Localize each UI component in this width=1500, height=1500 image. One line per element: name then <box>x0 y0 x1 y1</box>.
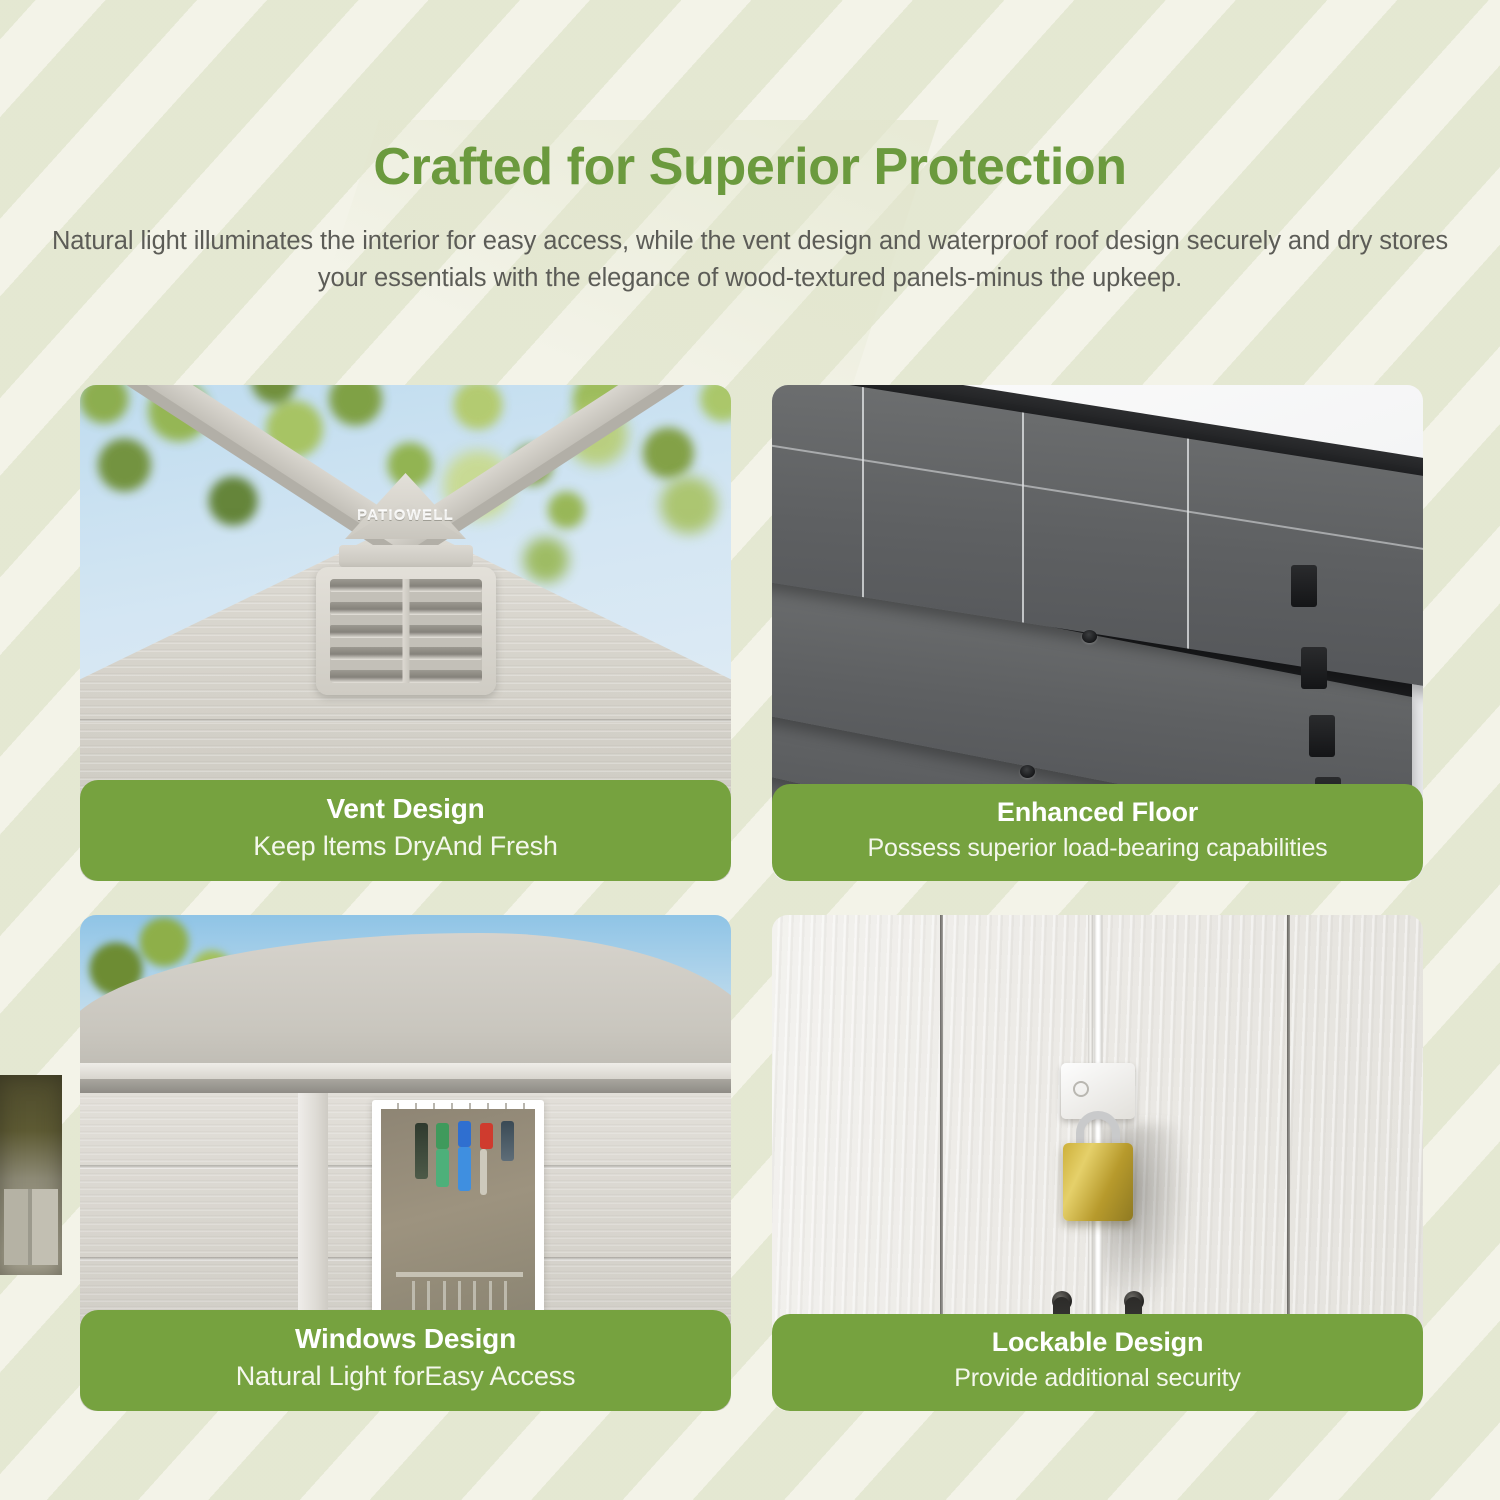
panel-seam-vertical <box>1022 412 1024 622</box>
hanging-tool-icon <box>501 1121 514 1161</box>
caption-subtitle: Provide additional security <box>790 1362 1405 1395</box>
hanging-tool-icon <box>436 1149 449 1187</box>
page-subtitle: Natural light illuminates the interior f… <box>40 223 1460 298</box>
hanging-tool-icon <box>415 1123 428 1179</box>
feature-grid: PATIOWELL Vent Design Keep ltems DryAnd … <box>80 385 1423 1411</box>
feature-page: Crafted for Superior Protection Natural … <box>0 0 1500 1500</box>
wall-panel-seam <box>80 719 731 722</box>
patiowell-brand-emboss: PATIOWELL <box>357 507 454 524</box>
windows-design-caption: Windows Design Natural Light forEasy Acc… <box>80 1310 731 1411</box>
panel-screw-hole <box>1020 765 1035 778</box>
panel-screw-hole <box>1082 630 1097 643</box>
roof-eave-shadow <box>80 1079 731 1093</box>
vent-hood-shelf <box>339 545 473 567</box>
vent-inner-frame <box>330 579 482 683</box>
feature-card-windows-design[interactable]: Windows Design Natural Light forEasy Acc… <box>80 915 731 1411</box>
caption-title: Vent Design <box>98 791 713 827</box>
feature-card-lockable-design[interactable]: Lockable Design Provide additional secur… <box>772 915 1423 1411</box>
panel-seam-vertical <box>862 387 864 597</box>
feature-card-vent-design[interactable]: PATIOWELL Vent Design Keep ltems DryAnd … <box>80 385 731 881</box>
caption-subtitle: Natural Light forEasy Access <box>98 1359 713 1395</box>
page-title: Crafted for Superior Protection <box>0 140 1500 195</box>
caption-subtitle: Keep ltems DryAnd Fresh <box>98 829 713 865</box>
hanging-tool-icon <box>458 1121 471 1147</box>
vent-center-divider <box>402 579 409 683</box>
latch-knob-icon <box>1073 1081 1089 1097</box>
panel-side-tab <box>1291 565 1317 607</box>
padlock-body-icon <box>1063 1143 1133 1221</box>
vent-louver-grille <box>316 567 496 695</box>
vent-design-caption: Vent Design Keep ltems DryAnd Fresh <box>80 780 731 881</box>
panel-side-tab <box>1309 715 1335 757</box>
hanging-tool-icon <box>480 1149 487 1195</box>
tool-peg-rail <box>396 1272 522 1277</box>
panel-side-tab <box>1301 647 1327 689</box>
lockable-design-caption: Lockable Design Provide additional secur… <box>772 1314 1423 1411</box>
caption-subtitle: Possess superior load-bearing capabiliti… <box>790 832 1405 865</box>
feature-card-enhanced-floor[interactable]: Enhanced Floor Possess superior load-bea… <box>772 385 1423 881</box>
panel-seam-vertical <box>1187 438 1189 648</box>
roof-fascia-trim <box>80 1063 731 1079</box>
hanging-tool-icon <box>480 1123 493 1149</box>
hanging-tool-icon <box>458 1147 471 1191</box>
caption-title: Windows Design <box>98 1321 713 1357</box>
caption-title: Enhanced Floor <box>790 795 1405 830</box>
hanging-tool-icon <box>436 1123 449 1149</box>
caption-title: Lockable Design <box>790 1325 1405 1360</box>
enhanced-floor-caption: Enhanced Floor Possess superior load-bea… <box>772 784 1423 881</box>
edge-thumbnail-sliver[interactable] <box>0 1075 62 1275</box>
page-header: Crafted for Superior Protection Natural … <box>0 0 1500 298</box>
